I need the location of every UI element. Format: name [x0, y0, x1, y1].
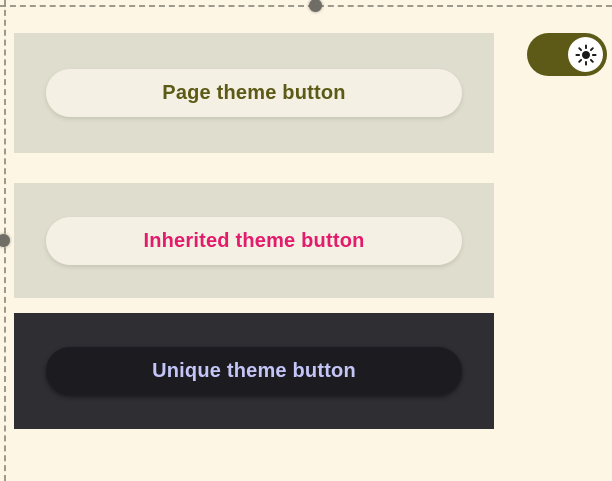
unique-theme-button[interactable]: Unique theme button [46, 347, 462, 395]
inherited-theme-card: Inherited theme button [14, 183, 494, 298]
theme-toggle-knob [568, 37, 603, 72]
sun-icon [575, 44, 597, 66]
selection-guide-top [0, 5, 612, 7]
page-canvas: Page theme button Inherited theme button… [0, 10, 612, 481]
theme-toggle-switch[interactable] [527, 33, 607, 76]
inherited-theme-button[interactable]: Inherited theme button [46, 217, 462, 265]
page-theme-button[interactable]: Page theme button [46, 69, 462, 117]
unique-theme-card: Unique theme button [14, 313, 494, 429]
page-theme-card: Page theme button [14, 33, 494, 153]
